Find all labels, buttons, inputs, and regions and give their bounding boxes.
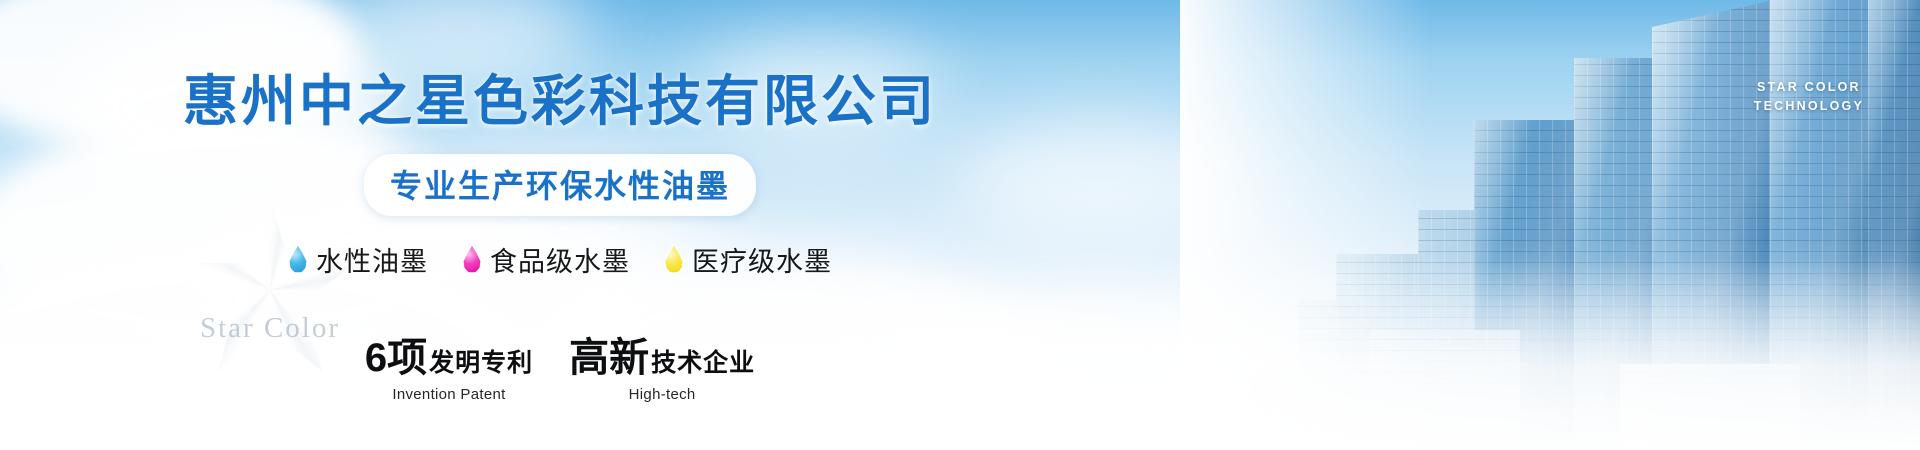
tagline-text: 专业生产环保水性油墨 [390, 168, 730, 204]
credential-badge: 6项 发明专利 Invention Patent [365, 325, 533, 403]
tagline-pill: 专业生产环保水性油墨 [364, 154, 756, 216]
feature-label: 食品级水墨 [490, 240, 630, 279]
banner-content: 惠州中之星色彩科技有限公司 专业生产环保水性油墨 水性油墨 食品级水墨 医疗级水… [0, 0, 1120, 450]
badge-label-cn: 技术企业 [651, 343, 755, 379]
badge-number: 高新 [569, 325, 649, 383]
company-title: 惠州中之星色彩科技有限公司 [183, 56, 937, 136]
badge-label-cn: 发明专利 [429, 343, 533, 379]
city-brand-line1: STAR COLOR [1754, 78, 1864, 97]
feature-label: 医疗级水墨 [692, 240, 832, 279]
feature-label: 水性油墨 [316, 240, 428, 279]
feature-item: 医疗级水墨 [664, 240, 832, 279]
city-brand-line2: TECHNOLOGY [1754, 97, 1864, 116]
credential-badge-list: 6项 发明专利 Invention Patent 高新 技术企业 High-te… [365, 325, 755, 403]
city-brand-overlay: STAR COLOR TECHNOLOGY [1754, 78, 1864, 117]
badge-number: 6项 [365, 325, 427, 383]
badge-headline: 6项 发明专利 [365, 325, 533, 383]
badge-label-en: High-tech [629, 386, 696, 403]
company-hero-banner: STAR COLOR TECHNOLOGY Star Color 惠州中之星色彩… [0, 0, 1920, 450]
credential-badge: 高新 技术企业 High-tech [569, 325, 755, 403]
product-feature-list: 水性油墨 食品级水墨 医疗级水墨 [288, 240, 832, 279]
badge-label-en: Invention Patent [392, 386, 505, 403]
ink-drop-icon [288, 246, 308, 273]
ink-drop-icon [462, 246, 482, 273]
ink-drop-icon [664, 246, 684, 273]
feature-item: 水性油墨 [288, 240, 428, 279]
badge-headline: 高新 技术企业 [569, 325, 755, 383]
feature-item: 食品级水墨 [462, 240, 630, 279]
